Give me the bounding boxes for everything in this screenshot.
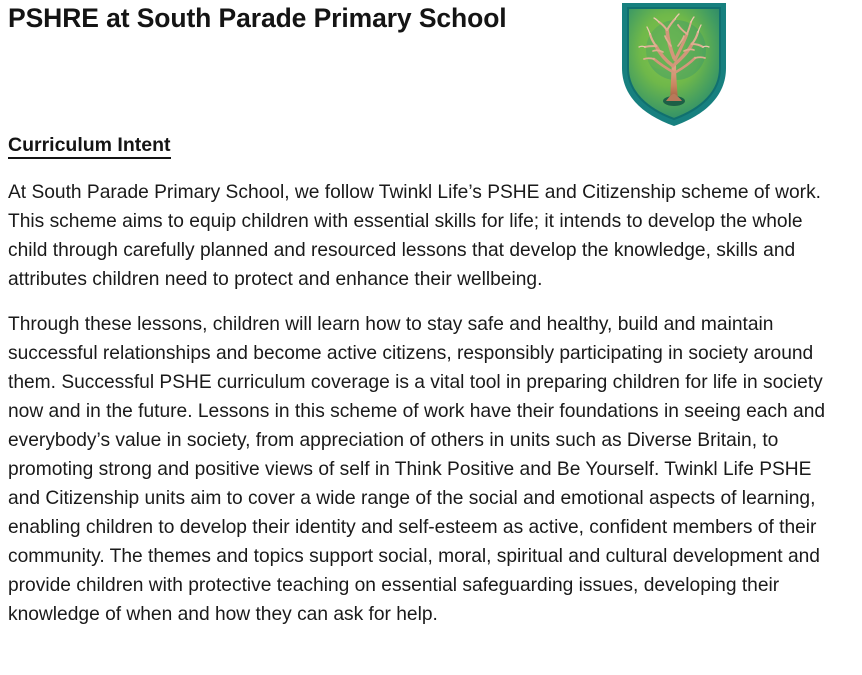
section-heading-text: Curriculum Intent (8, 134, 171, 159)
school-crest-icon (620, 2, 728, 126)
page-title: PSHRE at South Parade Primary School (8, 1, 507, 35)
document-header: PSHRE at South Parade Primary School (0, 0, 862, 130)
section-heading-curriculum-intent: Curriculum Intent (0, 130, 862, 160)
document-body: Curriculum Intent At South Parade Primar… (0, 130, 862, 629)
paragraph-curriculum-intent-2: Through these lessons, children will lea… (0, 310, 862, 629)
school-crest-logo (620, 2, 728, 126)
paragraph-curriculum-intent-1: At South Parade Primary School, we follo… (0, 178, 862, 294)
document-page: PSHRE at South Parade Primary School (0, 0, 862, 675)
